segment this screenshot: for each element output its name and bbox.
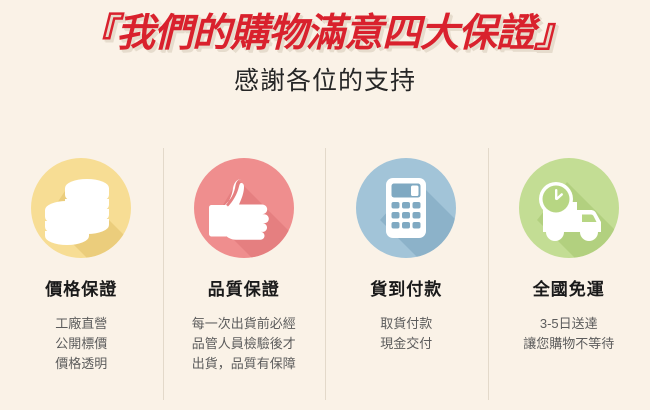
feature-lines-shipping: 3-5日送達 讓您購物不等待 [523,300,614,354]
feature-label-shipping: 全國免運 [533,258,605,300]
feature-line: 出貨，品質有保障 [192,354,296,374]
feature-line: 取貨付款 [380,314,432,334]
feature-lines-price: 工廠直營 公開標價 價格透明 [55,300,107,374]
feature-label-quality: 品質保證 [208,258,280,300]
feature-line: 3-5日送達 [523,314,614,334]
feature-line: 工廠直營 [55,314,107,334]
page-title: 『我們的購物滿意四大保證』 [0,0,650,57]
feature-line: 每一次出貨前必經 [192,314,296,334]
feature-column-shipping: 全國免運 3-5日送達 讓您購物不等待 [488,148,650,410]
feature-line: 讓您購物不等待 [523,334,614,354]
feature-column-payment: 貨到付款 取貨付款 現金交付 [325,148,488,410]
feature-lines-payment: 取貨付款 現金交付 [380,300,432,354]
feature-label-payment: 貨到付款 [370,258,442,300]
delivery-truck-clock-icon [519,158,619,258]
page-subtitle: 感謝各位的支持 [0,57,650,96]
feature-label-price: 價格保證 [45,258,117,300]
feature-line: 現金交付 [380,334,432,354]
feature-columns: 價格保證 工廠直營 公開標價 價格透明 品質保證 每一次出貨前必經 [0,148,650,410]
feature-line: 品管人員檢驗後才 [192,334,296,354]
coins-icon [31,158,131,258]
calculator-icon [356,158,456,258]
thumbs-up-icon [194,158,294,258]
promo-banner: 『我們的購物滿意四大保證』 感謝各位的支持 [0,0,650,410]
feature-line: 公開標價 [55,334,107,354]
feature-line: 價格透明 [55,354,107,374]
feature-lines-quality: 每一次出貨前必經 品管人員檢驗後才 出貨，品質有保障 [192,300,296,374]
feature-column-price: 價格保證 工廠直營 公開標價 價格透明 [0,148,163,410]
banner-header: 『我們的購物滿意四大保證』 感謝各位的支持 [0,0,650,96]
feature-column-quality: 品質保證 每一次出貨前必經 品管人員檢驗後才 出貨，品質有保障 [163,148,326,410]
